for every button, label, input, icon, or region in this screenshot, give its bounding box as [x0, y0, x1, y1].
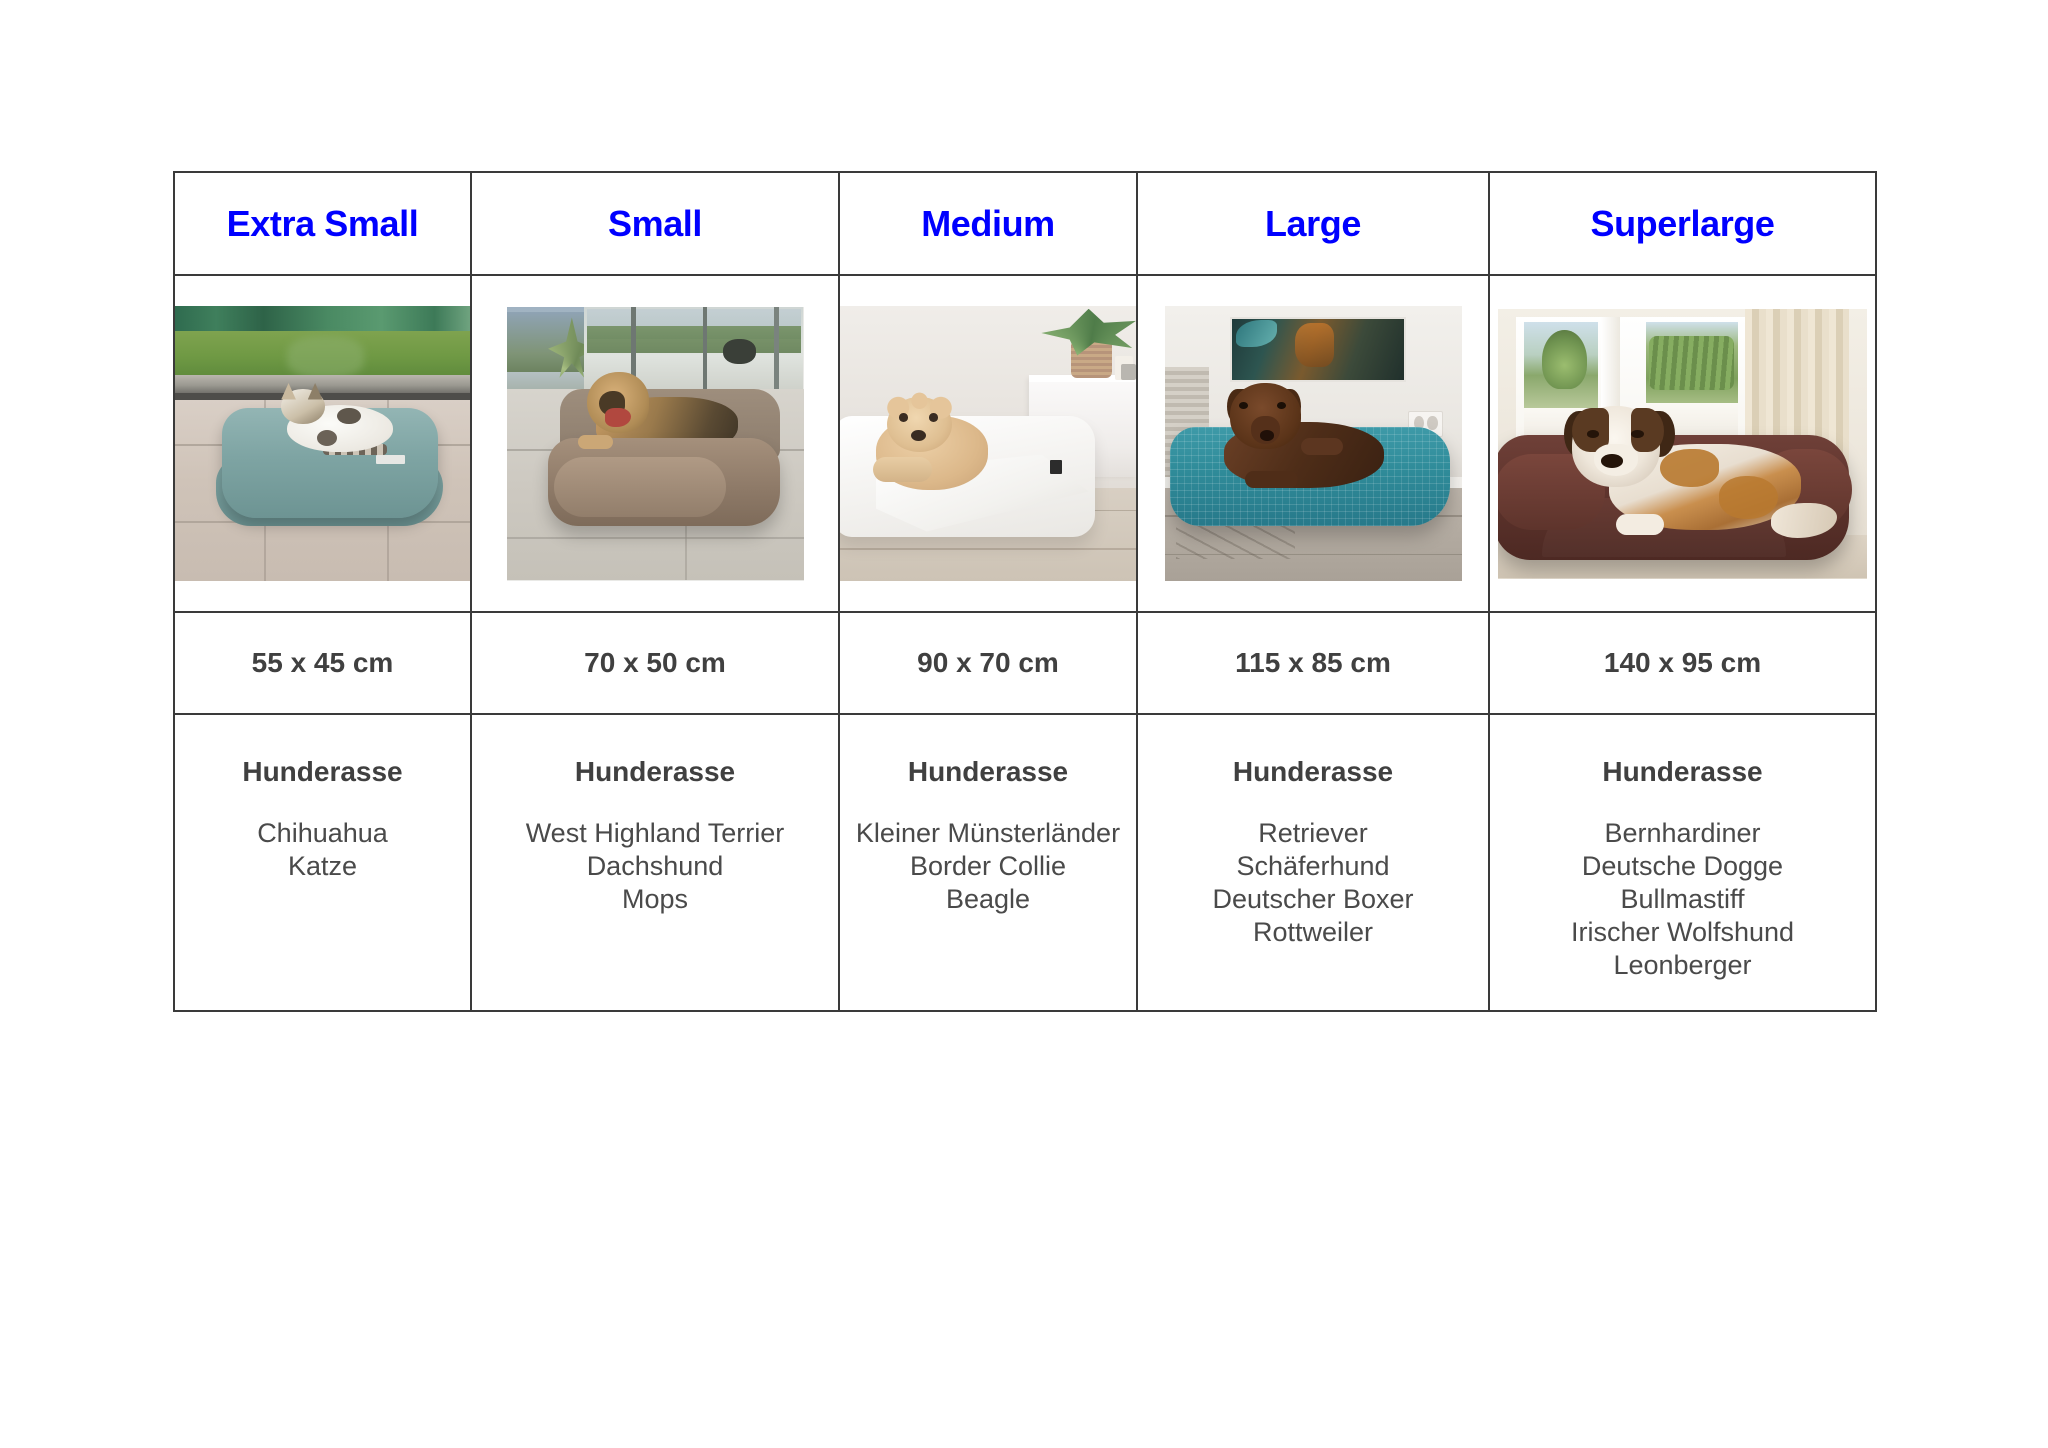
breeds-heading-superlarge: Hunderasse — [1490, 758, 1875, 786]
list-item: Deutsche Dogge — [1490, 850, 1875, 883]
photo-cell-extra-small — [174, 275, 471, 612]
list-item: Schäferhund — [1138, 850, 1488, 883]
breeds-cell-medium: Hunderasse Kleiner Münsterländer Border … — [839, 714, 1137, 1011]
dimensions-value-large: 115 x 85 cm — [1138, 649, 1488, 677]
breed-list-medium: Kleiner Münsterländer Border Collie Beag… — [840, 817, 1136, 916]
breeds-heading-medium: Hunderasse — [840, 758, 1136, 786]
list-item: Retriever — [1138, 817, 1488, 850]
product-photo-large — [1165, 306, 1462, 581]
product-photo-superlarge — [1498, 309, 1867, 579]
dimensions-cell-superlarge: 140 x 95 cm — [1489, 612, 1876, 714]
list-item: Mops — [472, 883, 838, 916]
dimensions-value-small: 70 x 50 cm — [472, 649, 838, 677]
breed-list-extra-small: Chihuahua Katze — [175, 817, 470, 883]
dimensions-value-superlarge: 140 x 95 cm — [1490, 649, 1875, 677]
list-item: Chihuahua — [175, 817, 470, 850]
dimensions-cell-extra-small: 55 x 45 cm — [174, 612, 471, 714]
size-class-label-large: Large — [1138, 206, 1488, 242]
photo-cell-medium — [839, 275, 1137, 612]
dimensions-row: 55 x 45 cm 70 x 50 cm 90 x 70 cm 115 x 8… — [174, 612, 1876, 714]
breeds-cell-small: Hunderasse West Highland Terrier Dachshu… — [471, 714, 839, 1011]
breeds-row: Hunderasse Chihuahua Katze Hunderasse We… — [174, 714, 1876, 1011]
dimensions-value-extra-small: 55 x 45 cm — [175, 649, 470, 677]
size-class-label-superlarge: Superlarge — [1490, 206, 1875, 242]
list-item: Bernhardiner — [1490, 817, 1875, 850]
breeds-heading-small: Hunderasse — [472, 758, 838, 786]
breeds-cell-large: Hunderasse Retriever Schäferhund Deutsch… — [1137, 714, 1489, 1011]
breed-list-superlarge: Bernhardiner Deutsche Dogge Bullmastiff … — [1490, 817, 1875, 982]
breed-list-large: Retriever Schäferhund Deutscher Boxer Ro… — [1138, 817, 1488, 949]
dimensions-cell-medium: 90 x 70 cm — [839, 612, 1137, 714]
list-item: Bullmastiff — [1490, 883, 1875, 916]
list-item: Leonberger — [1490, 949, 1875, 982]
breeds-cell-superlarge: Hunderasse Bernhardiner Deutsche Dogge B… — [1489, 714, 1876, 1011]
product-photo-medium — [840, 306, 1136, 581]
list-item: Dachshund — [472, 850, 838, 883]
size-class-cell-extra-small: Extra Small — [174, 172, 471, 275]
product-photo-small — [507, 307, 804, 581]
photo-cell-large — [1137, 275, 1489, 612]
photo-cell-small — [471, 275, 839, 612]
size-class-header-row: Extra Small Small Medium Large Superlarg… — [174, 172, 1876, 275]
product-photo-extra-small — [175, 306, 470, 581]
breeds-heading-extra-small: Hunderasse — [175, 758, 470, 786]
dimensions-cell-large: 115 x 85 cm — [1137, 612, 1489, 714]
photo-cell-superlarge — [1489, 275, 1876, 612]
breed-list-small: West Highland Terrier Dachshund Mops — [472, 817, 838, 916]
list-item: West Highland Terrier — [472, 817, 838, 850]
list-item: Beagle — [840, 883, 1136, 916]
size-class-cell-medium: Medium — [839, 172, 1137, 275]
size-class-label-medium: Medium — [840, 206, 1136, 242]
list-item: Kleiner Münsterländer — [840, 817, 1136, 850]
document-page: Extra Small Small Medium Large Superlarg… — [0, 0, 2048, 1448]
list-item: Deutscher Boxer — [1138, 883, 1488, 916]
breeds-heading-large: Hunderasse — [1138, 758, 1488, 786]
breeds-cell-extra-small: Hunderasse Chihuahua Katze — [174, 714, 471, 1011]
size-class-cell-large: Large — [1137, 172, 1489, 275]
list-item: Border Collie — [840, 850, 1136, 883]
size-class-cell-superlarge: Superlarge — [1489, 172, 1876, 275]
size-class-label-small: Small — [472, 206, 838, 242]
list-item: Katze — [175, 850, 470, 883]
list-item: Rottweiler — [1138, 916, 1488, 949]
dimensions-cell-small: 70 x 50 cm — [471, 612, 839, 714]
list-item: Irischer Wolfshund — [1490, 916, 1875, 949]
dimensions-value-medium: 90 x 70 cm — [840, 649, 1136, 677]
product-photo-row — [174, 275, 1876, 612]
size-class-label-extra-small: Extra Small — [175, 206, 470, 242]
dog-bed-size-table: Extra Small Small Medium Large Superlarg… — [173, 171, 1877, 1012]
size-class-cell-small: Small — [471, 172, 839, 275]
